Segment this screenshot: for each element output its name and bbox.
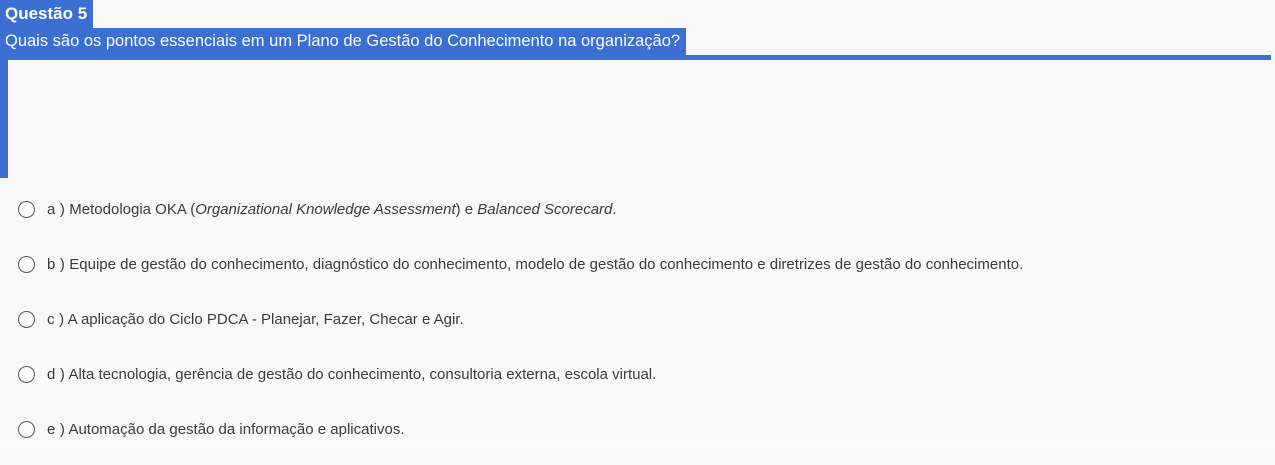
alternative-segment: Metodologia OKA ( bbox=[69, 201, 195, 218]
alternative-text: d ) Alta tecnologia, gerência de gestão … bbox=[47, 364, 656, 385]
alternative-letter: b ) bbox=[47, 256, 65, 273]
alternative-segment: Alta tecnologia, gerência de gestão do c… bbox=[68, 366, 656, 383]
alternative-text: a ) Metodologia OKA (Organizational Know… bbox=[47, 199, 617, 220]
radio-button-c[interactable] bbox=[18, 311, 35, 328]
alternative-segment: A aplicação do Ciclo PDCA - Planejar, Fa… bbox=[68, 311, 464, 328]
alternative-row[interactable]: e ) Automação da gestão da informação e … bbox=[0, 410, 1275, 465]
alternative-row[interactable]: b ) Equipe de gestão do conhecimento, di… bbox=[0, 245, 1275, 300]
radio-button-a[interactable] bbox=[18, 201, 35, 218]
alternative-row[interactable]: d ) Alta tecnologia, gerência de gestão … bbox=[0, 355, 1275, 410]
bottom-band bbox=[0, 441, 1275, 449]
alternative-letter: a ) bbox=[47, 201, 65, 218]
alternative-letter: d ) bbox=[47, 366, 65, 383]
radio-button-b[interactable] bbox=[18, 256, 35, 273]
question-prompt: Quais são os pontos essenciais em um Pla… bbox=[0, 28, 686, 55]
radio-button-d[interactable] bbox=[18, 366, 35, 383]
question-number: Questão 5 bbox=[0, 0, 93, 28]
alternatives-list: a ) Metodologia OKA (Organizational Know… bbox=[0, 190, 1275, 465]
alternative-text: b ) Equipe de gestão do conhecimento, di… bbox=[47, 254, 1023, 275]
radio-button-e[interactable] bbox=[18, 421, 35, 438]
question-block: Questão 5 Quais são os pontos essenciais… bbox=[0, 0, 1275, 55]
question-number-line: Questão 5 bbox=[0, 0, 1275, 28]
alternative-text: c ) A aplicação do Ciclo PDCA - Planejar… bbox=[47, 309, 464, 330]
alternative-segment: ) e bbox=[456, 201, 478, 218]
alternative-letter: c ) bbox=[47, 311, 64, 328]
alternative-text: e ) Automação da gestão da informação e … bbox=[47, 419, 405, 440]
alternative-segment: . bbox=[612, 201, 616, 218]
alternative-letter: e ) bbox=[47, 421, 65, 438]
alternative-emphasis: Organizational Knowledge Assessment bbox=[195, 201, 455, 218]
alternative-row[interactable]: c ) A aplicação do Ciclo PDCA - Planejar… bbox=[0, 300, 1275, 355]
alternative-segment: Automação da gestão da informação e apli… bbox=[68, 421, 404, 438]
alternative-segment: Equipe de gestão do conhecimento, diagnó… bbox=[69, 256, 1023, 273]
question-content-frame bbox=[0, 55, 1271, 178]
alternative-row[interactable]: a ) Metodologia OKA (Organizational Know… bbox=[0, 190, 1275, 245]
alternative-emphasis: Balanced Scorecard bbox=[477, 201, 612, 218]
question-prompt-line: Quais são os pontos essenciais em um Pla… bbox=[0, 28, 1275, 55]
